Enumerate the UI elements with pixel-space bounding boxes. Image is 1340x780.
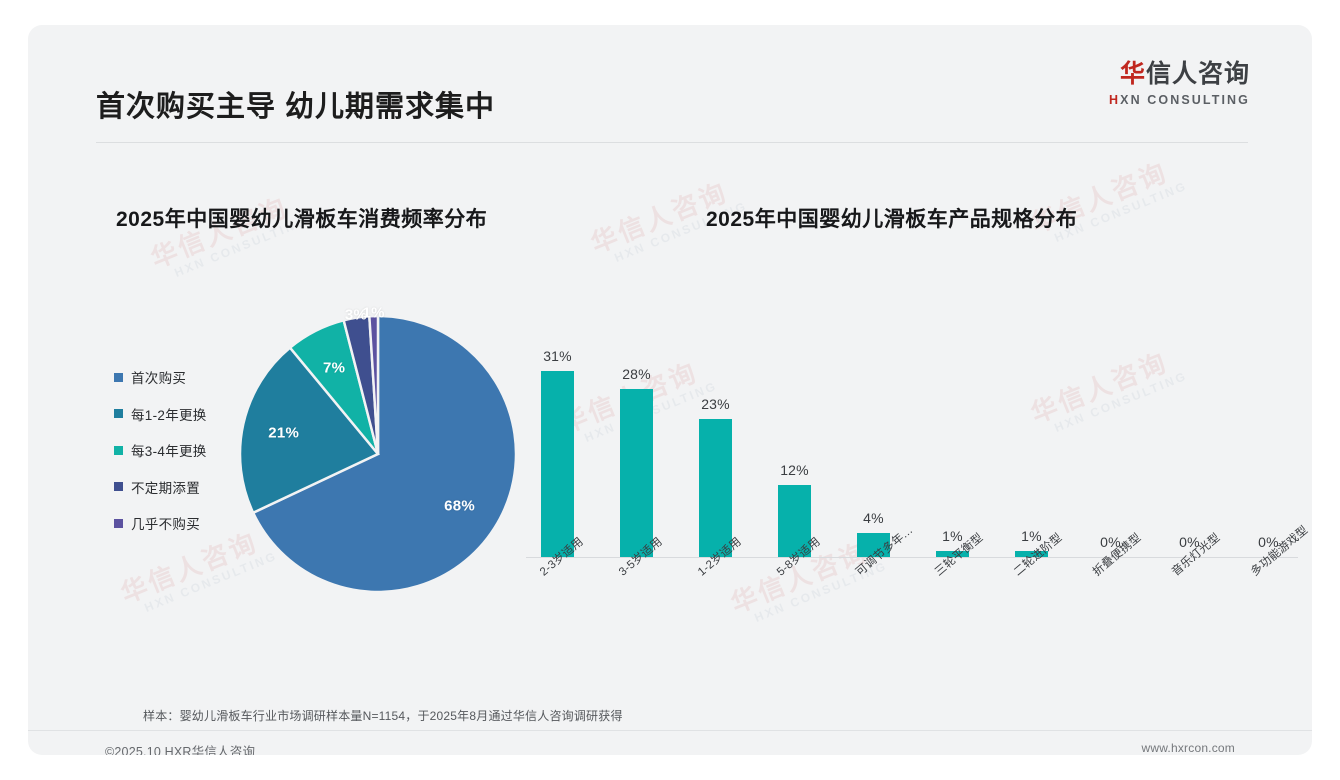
pie-slice-value-label: 68% bbox=[444, 497, 475, 514]
website-url: www.hxrcon.com bbox=[1142, 741, 1236, 755]
bar-rect[interactable] bbox=[620, 389, 653, 557]
pie-legend-label: 每1-2年更换 bbox=[131, 404, 207, 424]
pie-legend-item[interactable]: 不定期添置 bbox=[114, 477, 207, 497]
header-divider bbox=[96, 142, 1248, 143]
sample-note: 样本：婴幼儿滑板车行业市场调研样本量N=1154，于2025年8月通过华信人咨询… bbox=[143, 707, 623, 724]
footer-divider bbox=[28, 730, 1312, 731]
bar-rect[interactable] bbox=[699, 419, 732, 557]
bar-group[interactable]: 0% bbox=[1152, 275, 1228, 557]
bar-group[interactable]: 1% bbox=[994, 275, 1070, 557]
pie-slice-value-label: 7% bbox=[323, 359, 345, 376]
page-title: 首次购买主导 幼儿期需求集中 bbox=[96, 83, 495, 125]
bar-value-label: 28% bbox=[622, 366, 651, 382]
bar-group[interactable]: 28% bbox=[599, 275, 675, 557]
bar-chart-panel: 31%28%23%12%4%1%1%0%0%0% 2-3岁适用3-5岁适用1-2… bbox=[518, 275, 1308, 675]
bar-group[interactable]: 4% bbox=[836, 275, 912, 557]
logo-en-red-char: H bbox=[1109, 93, 1120, 107]
slide-canvas: 华信人咨询 HXN CONSULTING 华信人咨询 HXN CONSULTIN… bbox=[28, 25, 1312, 755]
pie-slice-value-label: 21% bbox=[268, 424, 299, 441]
legend-swatch-icon bbox=[114, 373, 123, 382]
pie-legend: 首次购买每1-2年更换每3-4年更换不定期添置几乎不购买 bbox=[114, 367, 207, 550]
bar-value-label: 31% bbox=[543, 348, 572, 364]
pie-legend-label: 每3-4年更换 bbox=[131, 440, 207, 460]
brand-logo: 华信人咨询 HXN CONSULTING bbox=[1109, 61, 1250, 107]
bar-group[interactable]: 1% bbox=[915, 275, 991, 557]
bar-group[interactable]: 0% bbox=[1231, 275, 1307, 557]
bar-value-label: 12% bbox=[780, 462, 809, 478]
bar-rect[interactable] bbox=[541, 371, 574, 557]
watermark: 华信人咨询 HXN CONSULTING bbox=[1025, 147, 1190, 251]
logo-cn-rest: 信人咨询 bbox=[1146, 60, 1250, 88]
pie-chart-panel: 首次购买每1-2年更换每3-4年更换不定期添置几乎不购买 68%21%7%3%1… bbox=[88, 275, 558, 615]
pie-legend-label: 首次购买 bbox=[131, 367, 186, 387]
legend-swatch-icon bbox=[114, 482, 123, 491]
pie-chart-graphic bbox=[233, 309, 523, 599]
bar-group[interactable]: 31% bbox=[520, 275, 596, 557]
logo-english-name: HXN CONSULTING bbox=[1109, 93, 1250, 107]
bar-group[interactable]: 12% bbox=[757, 275, 833, 557]
pie-legend-label: 几乎不购买 bbox=[131, 513, 200, 533]
legend-swatch-icon bbox=[114, 519, 123, 528]
pie-slice-value-label: 1% bbox=[362, 305, 384, 322]
legend-swatch-icon bbox=[114, 446, 123, 455]
pie-legend-item[interactable]: 几乎不购买 bbox=[114, 513, 207, 533]
bar-group[interactable]: 23% bbox=[678, 275, 754, 557]
logo-cn-red-char: 华 bbox=[1120, 60, 1146, 88]
pie-legend-item[interactable]: 每3-4年更换 bbox=[114, 440, 207, 460]
header: 首次购买主导 幼儿期需求集中 华信人咨询 HXN CONSULTING bbox=[28, 25, 1312, 117]
watermark: 华信人咨询 HXN CONSULTING bbox=[145, 182, 310, 286]
pie-legend-item[interactable]: 每1-2年更换 bbox=[114, 404, 207, 424]
bar-value-label: 4% bbox=[863, 510, 884, 526]
logo-chinese-name: 华信人咨询 bbox=[1109, 61, 1250, 89]
right-chart-title: 2025年中国婴幼儿滑板车产品规格分布 bbox=[706, 203, 1077, 233]
logo-en-rest: XN CONSULTING bbox=[1120, 93, 1250, 107]
bar-plot-area: 31%28%23%12%4%1%1%0%0%0% bbox=[518, 275, 1308, 560]
pie-legend-label: 不定期添置 bbox=[131, 477, 200, 497]
bar-value-label: 23% bbox=[701, 396, 730, 412]
copyright-text: ©2025.10 HXR华信人咨询 bbox=[105, 741, 255, 755]
bar-group[interactable]: 0% bbox=[1073, 275, 1149, 557]
legend-swatch-icon bbox=[114, 409, 123, 418]
left-chart-title: 2025年中国婴幼儿滑板车消费频率分布 bbox=[116, 203, 487, 233]
pie-legend-item[interactable]: 首次购买 bbox=[114, 367, 207, 387]
